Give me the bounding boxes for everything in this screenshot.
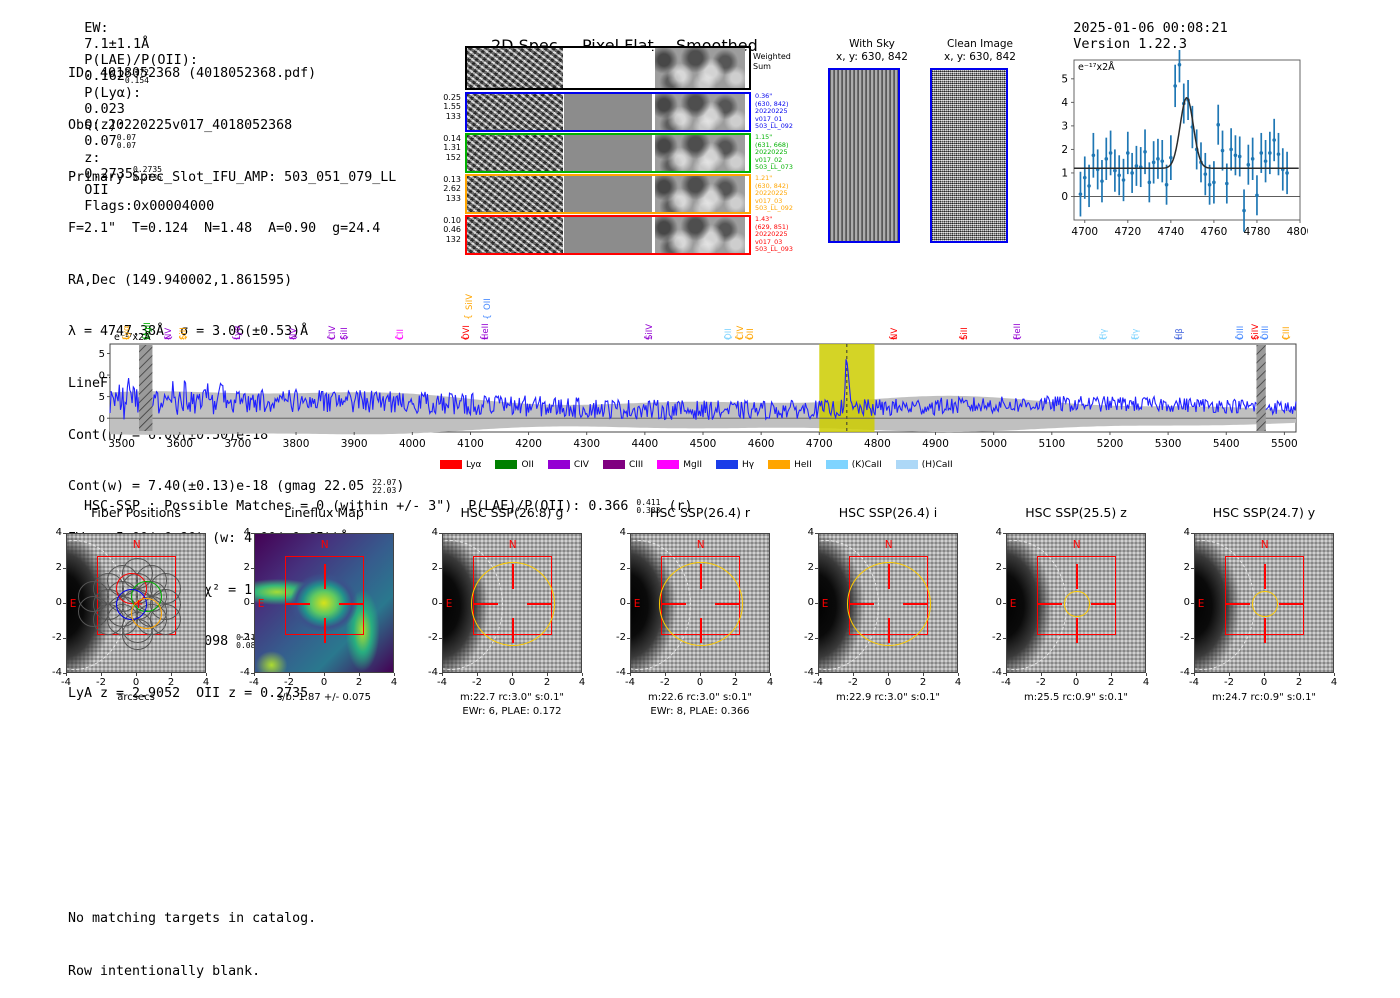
panel-xtick-mark [818,673,819,676]
legend-item: (H)CaII [896,454,953,473]
panel-ytick: -2 [234,632,250,643]
emission-line-bracket: { [461,335,471,341]
emission-line-bracket: { [1174,335,1184,341]
legend-swatch [548,460,570,469]
footer-note: No matching targets in catalog. Row inte… [68,875,316,998]
panel-xtick-mark [958,673,959,676]
compass-north-label: N [1261,539,1269,551]
panel-ytick-mark [627,603,630,604]
panel-ytick: 4 [986,527,1002,538]
spec2d-fiber-value: 0.10 [419,216,461,225]
panel-xtick: 4 [760,677,780,688]
crosshair-top [324,564,325,589]
panel-xtick: 4 [384,677,404,688]
panel-xtick-mark [101,673,102,676]
panel-ytick: 2 [234,562,250,573]
imaging-panel-row: Fiber PositionsNE+420-2-4-4-2024arcsecsL… [0,505,1400,735]
panel-xlabel: arcsecs [46,692,226,703]
spectrum-xtick: 4800 [864,438,891,450]
spec2d-fiber-value: 1.55 [419,102,461,111]
spec2d-fiber-left-values: 0.141.31152 [419,134,461,162]
spec2d-fiber-value: 0.13 [419,175,461,184]
panel-xtick-mark [136,673,137,676]
legend-swatch [603,460,625,469]
panel-xtick-mark [735,673,736,676]
spec2d-fiber-value: 133 [419,112,461,121]
panel-ytick-mark [251,533,254,534]
panel-xtick: 0 [690,677,710,688]
spectrum-ytick: 0.0 [98,414,105,425]
panel-ytick-mark [63,533,66,534]
compass-north-label: N [697,539,705,551]
emission-line-bracket: { [483,314,493,320]
panel-ytick: 2 [1174,562,1190,573]
footer-line-1: No matching targets in catalog. [68,910,316,928]
spec2d-fiber-meta: 1.21"(630, 842)20220225v017_03503_LL_092 [755,175,835,213]
panel-xtick: 4 [1324,677,1344,688]
emission-line-bracket: { [1282,335,1292,341]
panel-xtick: 0 [126,677,146,688]
panel-ytick-mark [63,568,66,569]
spectrum-xtick: 4700 [806,438,833,450]
spec2d-fiber-pixelflat-image [564,135,652,171]
panel-ytick: -2 [798,632,814,643]
panel-caption-2: EWr: 8, PLAE: 0.366 [606,706,794,717]
panel-ytick-mark [1191,533,1194,534]
legend-label: Hγ [742,460,754,470]
panel-ytick: 4 [610,527,626,538]
imaging-panel-image: NE [818,533,958,673]
legend-swatch [768,460,790,469]
spec2d-fiber-left-values: 0.132.62133 [419,175,461,203]
panel-ytick: 4 [798,527,814,538]
spec2d-fiber-left-values: 0.100.46132 [419,216,461,244]
panel-xtick: 0 [878,677,898,688]
crosshair-bottom [1264,618,1265,643]
spec2d-fiber-value: 2.62 [419,184,461,193]
panel-ytick: 0 [610,597,626,608]
emission-line-bracket: { [745,335,755,341]
panel-ytick-mark [815,568,818,569]
spectrum-xtick: 4500 [690,438,717,450]
legend-item: (K)CaII [826,454,882,473]
panel-xtick-mark [582,673,583,676]
spec2d-fiber-2dspec-image [467,94,563,130]
panel-ytick-mark [1003,603,1006,604]
spectrum-xtick: 4900 [922,438,949,450]
aperture-circle [471,562,555,646]
legend-item: Hγ [716,454,754,473]
panel-xtick: 0 [1254,677,1274,688]
panel-ytick-mark [627,533,630,534]
spec2d-fiber-smoothed-image [655,94,745,130]
compass-east-label: E [258,598,265,610]
panel-ytick-mark [439,603,442,604]
aperture-circle [1252,591,1277,616]
info-line-params: F=2.1" T=0.124 N=1.48 A=0.90 g=24.4 [68,220,404,237]
compass-north-label: N [885,539,893,551]
crosshair-left [1225,603,1250,604]
spectrum-xtick: 3500 [108,438,135,450]
zoom-plot-ytick: 5 [1061,73,1068,85]
withsky-image [828,68,900,243]
imaging-panel-title: Fiber Positions [44,505,228,520]
full-spectrum-plot: Lyα{MgII{NV{SiII{Lyα{NV{CIV{SiII{CII{OVI… [98,282,1306,472]
emission-line-bracket: { [1235,335,1245,341]
panel-xtick-mark [547,673,548,676]
zoom-plot-xtick: 4700 [1071,226,1098,238]
panel-ytick-mark [63,638,66,639]
imaging-panel-image: NE [442,533,582,673]
imaging-panel-title: HSC SSP(26.4) r [608,505,792,520]
cleanimage-title: Clean Image x, y: 630, 842 [925,38,1035,63]
zoom-plot-unit-label: e⁻¹⁷x2Å [1078,62,1115,73]
panel-xtick-mark [1299,673,1300,676]
spec2d-fiber-row [465,174,751,214]
spectrum-masked-region [1256,345,1265,431]
spec2d-fiber-left-values: 0.251.55133 [419,93,461,121]
compass-north-label: N [1073,539,1081,551]
panel-xtick: -4 [996,677,1016,688]
panel-xtick: 0 [502,677,522,688]
panel-xtick-mark [171,673,172,676]
panel-ytick-mark [1191,638,1194,639]
panel-caption-1: m:22.6 rc:3.0" s:0.1" [606,692,794,703]
spec2d-fiber-value: 0.25 [419,93,461,102]
panel-ytick: 4 [422,527,438,538]
panel-xtick: 2 [161,677,181,688]
panel-ytick: -2 [46,632,62,643]
panel-xtick: 4 [948,677,968,688]
spec2d-fiber-value: 132 [419,235,461,244]
panel-xtick: -2 [467,677,487,688]
legend-swatch [440,460,462,469]
header-timestamp-version: 2025-01-06 00:08:21 Version 1.22.3 [1057,4,1236,52]
panel-caption-2: EWr: 6, PLAE: 0.172 [418,706,606,717]
legend-item: HeII [768,454,812,473]
panel-ytick: 0 [986,597,1002,608]
spec2d-fiber-value: 0.14 [419,134,461,143]
panel-ytick: 2 [798,562,814,573]
emission-line-bracket: { [232,335,242,341]
aperture-circle [1064,591,1089,616]
zoom-plot-xtick: 4780 [1244,226,1271,238]
panel-ytick: 0 [234,597,250,608]
panel-xtick: 2 [1101,677,1121,688]
spectrum-xtick: 4000 [399,438,426,450]
panel-xtick: 4 [196,677,216,688]
spectrum-xtick: 4600 [748,438,775,450]
panel-ytick-mark [815,603,818,604]
panel-ytick-mark [1003,568,1006,569]
crosshair-bottom [324,618,325,643]
panel-ytick-mark [439,568,442,569]
compass-north-label: N [321,539,329,551]
panel-ytick: 0 [422,597,438,608]
panel-ytick: 4 [46,527,62,538]
spectrum-xtick: 4100 [457,438,484,450]
spec2d-fiber-meta-line: 503_LL_093 [755,246,835,254]
imaging-panel-image: NE [1194,533,1334,673]
imaging-panel-title: Lineflux Map [232,505,416,520]
spec2d-weighted-smoothed-image [655,48,745,88]
spec2d-fiber-2dspec-image [467,135,563,171]
panel-ytick: -2 [422,632,438,643]
spec2d-fiber-smoothed-image [655,176,745,212]
spectrum-xtick: 3900 [341,438,368,450]
panel-xtick: -4 [620,677,640,688]
panel-xtick-mark [289,673,290,676]
panel-ytick-mark [251,638,254,639]
legend-label: MgII [683,460,702,470]
panel-ytick-mark [627,568,630,569]
spec2d-fiber-2dspec-image [467,217,563,253]
panel-ytick-mark [1191,603,1194,604]
spec2d-weighted-pixelflat-image [564,48,652,88]
panel-xtick: -4 [244,677,264,688]
compass-east-label: E [446,598,453,610]
panel-xtick-mark [1006,673,1007,676]
panel-xtick-mark [630,673,631,676]
spec2d-weighted-2dspec-image [467,48,563,88]
spec2d-fiber-row [465,215,751,255]
spectrum-xtick: 4200 [515,438,542,450]
emission-line-bracket: { [480,335,490,341]
spec2d-fiber-value: 152 [419,153,461,162]
emission-line-bracket: { [1130,335,1140,341]
panel-xtick-mark [66,673,67,676]
legend-label: CIV [574,460,589,470]
emission-line-bracket: { [464,314,474,320]
emission-line-bracket: { [1260,335,1270,341]
legend-label: Lyα [466,460,481,470]
legend-label: (K)CaII [852,460,882,470]
spec2d-fiber-meta-line: 503_LL_092 [755,123,835,131]
panel-xtick-mark [442,673,443,676]
panel-xtick-mark [1146,673,1147,676]
panel-ytick: 2 [422,562,438,573]
compass-east-label: E [634,598,641,610]
line-zoom-plot-svg: 470047204740476047804800012345 [1040,50,1308,250]
panel-ytick-mark [439,638,442,639]
legend-swatch [716,460,738,469]
panel-xtick-mark [665,673,666,676]
crosshair-top [1076,564,1077,589]
crosshair-bottom [1076,618,1077,643]
imaging-panel-title: HSC SSP(25.5) z [984,505,1168,520]
line-zoom-plot: 470047204740476047804800012345e⁻¹⁷x2Å [1040,50,1308,250]
spectrum-unit-label: e⁻¹⁷x2Å [114,332,151,343]
panel-xtick: -4 [1184,677,1204,688]
imaging-panel-image: NE [630,533,770,673]
panel-ytick-mark [815,533,818,534]
spectrum-xtick: 5400 [1213,438,1240,450]
zoom-plot-xtick: 4720 [1114,226,1141,238]
legend-item: CIV [548,454,589,473]
spec2d-weighted-sum-row [465,46,751,90]
imaging-panel-title: HSC SSP(26.4) i [796,505,980,520]
spec2d-fiber-meta: 0.36"(630, 842)20220225v017_01503_LL_092 [755,93,835,131]
spec2d-fiber-2dspec-image [467,176,563,212]
spectrum-xtick: 5300 [1155,438,1182,450]
imaging-panel-image: NE [1006,533,1146,673]
emission-line-bracket: { [179,335,189,341]
panel-xtick-mark [1229,673,1230,676]
header-datetime: 2025-01-06 00:08:21 [1073,20,1227,36]
zoom-plot-ytick: 4 [1061,97,1068,109]
withsky-title: With Sky x, y: 630, 842 [822,38,922,63]
panel-xtick: -2 [1219,677,1239,688]
spec2d-fiber-row [465,133,751,173]
panel-xtick-mark [359,673,360,676]
panel-ytick-mark [251,568,254,569]
zoom-plot-xtick: 4800 [1287,226,1308,238]
emission-line-bracket: { [1012,335,1022,341]
imaging-panel-title: HSC SSP(24.7) y [1172,505,1356,520]
panel-xtick: 4 [1136,677,1156,688]
imaging-panel-image: NE+ [66,533,206,673]
spectrum-xtick: 3800 [283,438,310,450]
panel-xtick-mark [888,673,889,676]
panel-xtick: -4 [808,677,828,688]
emission-line-label: SiIV [465,284,475,310]
spectrum-ytick: 7.5 [98,349,105,360]
legend-swatch [896,460,918,469]
crosshair-left [1037,603,1062,604]
emission-line-bracket: { [1099,335,1109,341]
panel-ytick-mark [251,603,254,604]
panel-caption-1: m:25.5 rc:0.9" s:0.1" [982,692,1170,703]
spectrum-xtick: 5000 [980,438,1007,450]
panel-xtick-mark [254,673,255,676]
footer-line-2: Row intentionally blank. [68,963,316,981]
legend-item: CIII [603,454,643,473]
spectrum-xtick: 3600 [166,438,193,450]
legend-label: CIII [629,460,643,470]
panel-xtick: 0 [1066,677,1086,688]
zoom-plot-ytick: 0 [1061,191,1068,203]
panel-xtick: -2 [655,677,675,688]
panel-ytick: 0 [1174,597,1190,608]
crosshair-right [1279,603,1304,604]
compass-east-label: E [1010,598,1017,610]
zoom-plot-ytick: 2 [1061,144,1068,156]
emission-line-bracket: { [644,335,654,341]
spectrum-masked-region [139,345,152,431]
emission-line-bracket: { [395,335,405,341]
zoom-plot-xtick: 4740 [1157,226,1184,238]
crosshair-left [285,603,310,604]
emission-line-bracket: { [959,335,969,341]
spec2d-fiber-pixelflat-image [564,217,652,253]
spec2d-fiber-value: 1.31 [419,143,461,152]
panel-ytick-mark [1191,568,1194,569]
panel-xtick-mark [324,673,325,676]
panel-ytick-mark [439,533,442,534]
panel-xtick-mark [1041,673,1042,676]
panel-caption-1: m:22.9 rc:3.0" s:0.1" [794,692,982,703]
panel-ytick: -2 [610,632,626,643]
zoom-plot-ytick: 3 [1061,120,1068,132]
legend-label: (H)CaII [922,460,953,470]
aperture-circle [847,562,931,646]
spectrum-xtick: 5500 [1271,438,1298,450]
emission-line-bracket: { [724,335,734,341]
panel-xtick-mark [394,673,395,676]
panel-xtick-mark [770,673,771,676]
panel-caption-1: s/b: 1.87 +/- 0.075 [230,692,418,703]
panel-ytick-mark [815,638,818,639]
panel-xtick: 2 [1289,677,1309,688]
panel-xtick: 0 [314,677,334,688]
crosshair-right [1091,603,1116,604]
panel-xtick: 2 [725,677,745,688]
panel-xtick: 4 [572,677,592,688]
panel-xtick: -4 [432,677,452,688]
panel-xtick: -4 [56,677,76,688]
info-line-obs: Obs: 20220225v017_4018052368 [68,117,404,134]
panel-xtick-mark [1076,673,1077,676]
crosshair-top [1264,564,1265,589]
info-line-primary-spec: Primary Spec_Slot_IFU_AMP: 503_051_079_L… [68,169,404,186]
spec2d-fiber-value: 0.46 [419,225,461,234]
info-line-id: ID: 4018052368 (4018052368.pdf) [68,65,404,82]
legend-item: OII [495,454,533,473]
panel-ytick: -2 [1174,632,1190,643]
spec2d-fiber-meta: 1.43"(629, 851)20220225v017_03503_LL_093 [755,216,835,254]
spec2d-fiber-smoothed-image [655,135,745,171]
panel-ytick: 2 [46,562,62,573]
panel-xtick: 2 [913,677,933,688]
panel-caption-1: m:24.7 rc:0.9" s:0.1" [1170,692,1358,703]
spec2d-fiber-pixelflat-image [564,176,652,212]
spec2d-fiber-meta: 1.15"(631, 668)20220225v017_02503_LL_073 [755,134,835,172]
panel-ytick: 2 [610,562,626,573]
panel-xtick-mark [206,673,207,676]
panel-xtick: 2 [349,677,369,688]
panel-ytick: 0 [46,597,62,608]
target-marker: + [134,597,144,611]
spec2d-fiber-meta-line: 503_LL_073 [755,164,835,172]
full-spectrum-svg: 0.02.55.07.53500360037003800390040004100… [98,282,1306,472]
spectrum-xtick: 5200 [1097,438,1124,450]
cleanimage-image [930,68,1008,243]
aperture-circle [659,562,743,646]
panel-xtick-mark [1194,673,1195,676]
zoom-plot-ytick: 1 [1061,168,1068,180]
spec2d-weighted-sum-label: Weighted Sum [753,52,791,71]
zoom-plot-xtick: 4760 [1201,226,1228,238]
panel-ytick-mark [1003,638,1006,639]
panel-xtick-mark [1264,673,1265,676]
panel-ytick-mark [63,603,66,604]
spec2d-fiber-meta-line: 503_LL_092 [755,205,835,213]
legend-item: Lyα [440,454,481,473]
emission-line-bracket: { [889,335,899,341]
panel-xtick: 2 [537,677,557,688]
spectrum-ytick: 5.0 [98,371,105,382]
panel-xtick-mark [477,673,478,676]
imaging-panel-image: NE [254,533,394,673]
spectrum-xtick: 3700 [225,438,252,450]
spectrum-ytick: 2.5 [98,392,105,403]
panel-xtick-mark [853,673,854,676]
panel-xtick-mark [923,673,924,676]
spectrum-xtick: 4300 [573,438,600,450]
panel-xtick-mark [512,673,513,676]
compass-east-label: E [822,598,829,610]
emission-line-bracket: { [340,335,350,341]
